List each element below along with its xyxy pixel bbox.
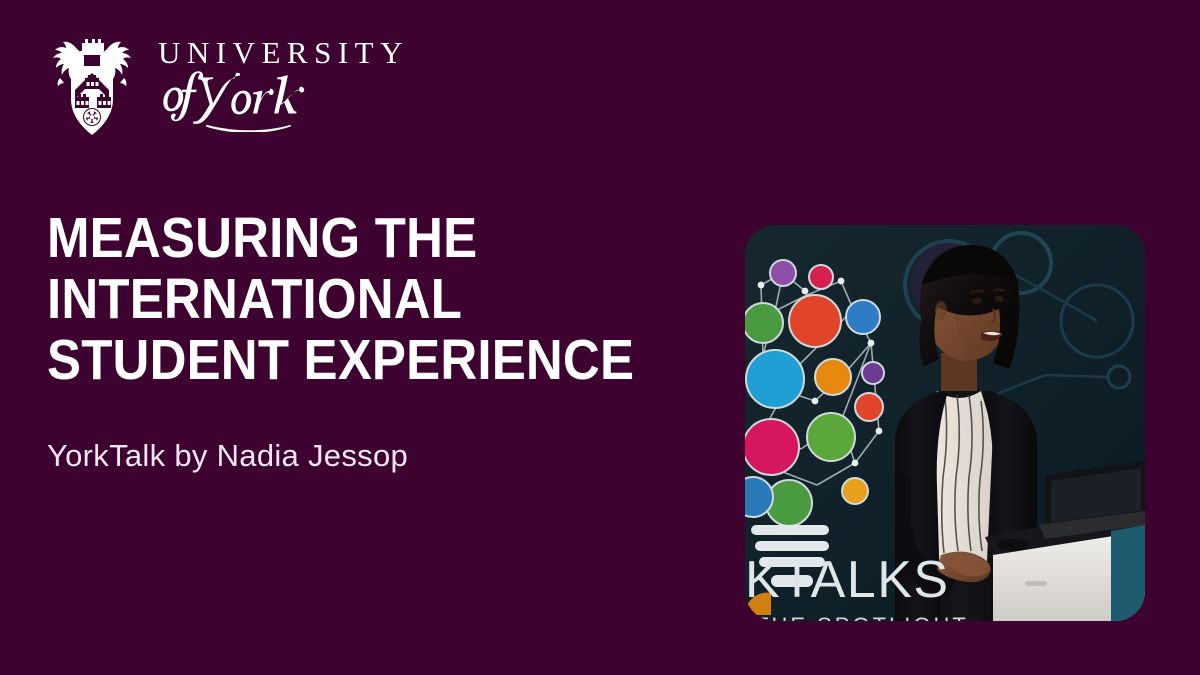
page-subtitle: YorkTalk by Nadia Jessop [47,438,408,474]
backdrop-spotlight-text: THE SPOTLIGHT [755,613,969,621]
backdrop-yorktalks-text: KTALKS [745,551,950,609]
university-wordmark: UNIVERSITY [158,33,409,132]
page-title: MEASURING THE INTERNATIONAL STUDENT EXPE… [47,208,707,391]
headline-line-1: MEASURING THE [47,208,638,269]
title-slide: UNIVERSITY [0,0,1200,675]
wordmark-university-text: UNIVERSITY [158,37,409,68]
wordmark-of-york-script-icon [158,70,336,132]
university-of-york-crest-icon [40,26,144,138]
university-brand-lockup: UNIVERSITY [40,26,409,138]
headline-line-3: STUDENT EXPERIENCE [47,330,638,391]
speaker-photo-image: KTALKS THE SPOTLIGHT [745,225,1145,621]
headline-line-2: INTERNATIONAL [47,269,638,330]
speaker-photo: KTALKS THE SPOTLIGHT [745,225,1145,621]
